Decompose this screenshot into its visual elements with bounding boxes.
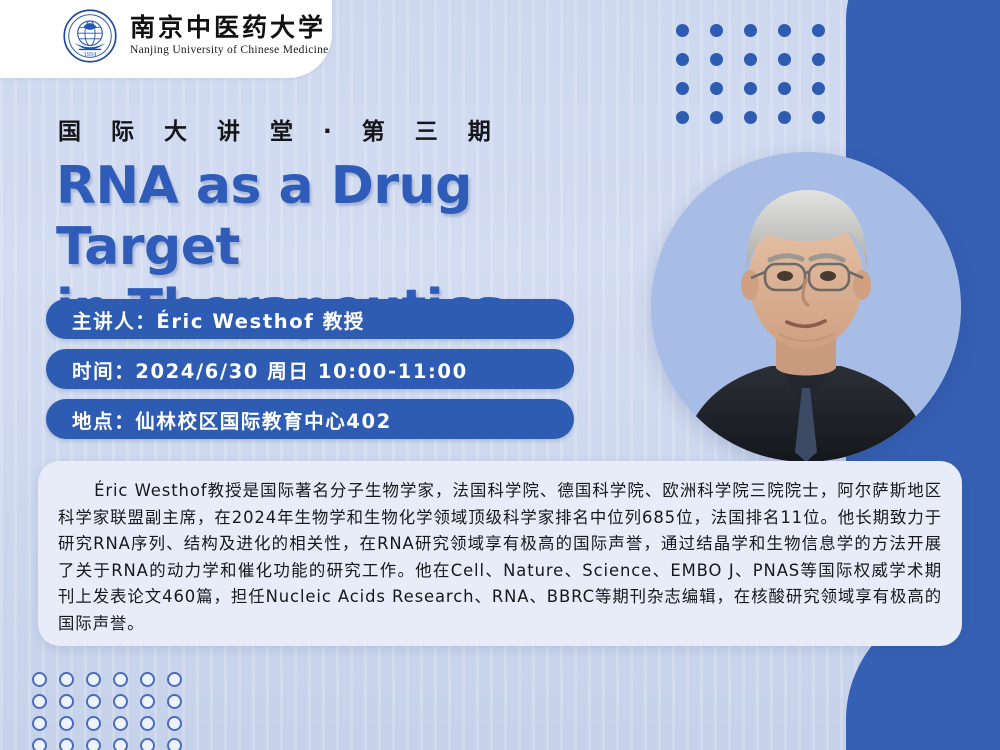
dot-grid-top-right — [676, 24, 846, 140]
title-line-1: RNA as a Drug Target — [56, 156, 656, 279]
series-kicker: 国 际 大 讲 堂 · 第 三 期 — [58, 112, 502, 146]
event-info-pills: 主讲人：Éric Westhof 教授 时间：2024/6/30 周日 10:0… — [46, 299, 574, 439]
logo-name-cn: 南京中医药大学 — [130, 15, 329, 40]
pill-location: 地点：仙林校区国际教育中心402 — [46, 399, 574, 439]
speaker-bio-text: Éric Westhof教授是国际著名分子生物学家，法国科学院、德国科学院、欧洲… — [58, 478, 942, 637]
university-logo-banner: 1954 南京中医药大学 Nanjing University of Chine… — [0, 0, 332, 78]
logo-name-en: Nanjing University of Chinese Medicine — [130, 45, 329, 57]
dot-grid-bottom-left — [32, 672, 194, 750]
poster-canvas: 1954 南京中医药大学 Nanjing University of Chine… — [0, 0, 1000, 750]
pill-time: 时间：2024/6/30 周日 10:00-11:00 — [46, 349, 574, 389]
speaker-bio-card: Éric Westhof教授是国际著名分子生物学家，法国科学院、德国科学院、欧洲… — [38, 461, 962, 646]
pill-speaker: 主讲人：Éric Westhof 教授 — [46, 299, 574, 339]
portrait-illustration — [651, 152, 961, 462]
speaker-portrait — [651, 152, 961, 462]
university-emblem-icon: 1954 — [62, 8, 118, 64]
svg-text:1954: 1954 — [84, 52, 97, 58]
